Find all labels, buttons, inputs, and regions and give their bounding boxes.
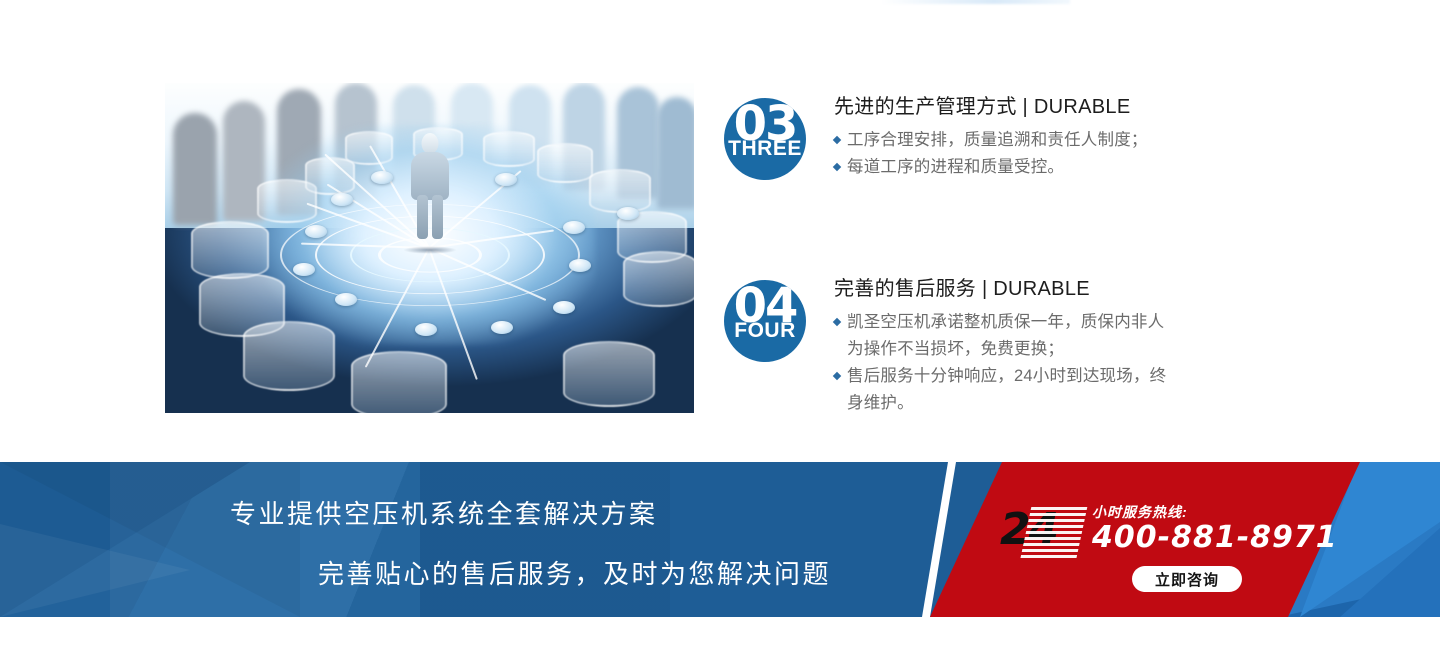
central-person-figure [409, 133, 451, 241]
feature-badge-04: 04 FOUR [724, 280, 806, 362]
network-connection-illustration [165, 83, 694, 413]
banner-headline-2: 完善贴心的售后服务，及时为您解决问题 [318, 554, 831, 591]
network-node [563, 221, 585, 234]
feature-line-text: 凯圣空压机承诺整机质保一年，质保内非人 [847, 313, 1164, 331]
network-node [335, 293, 357, 306]
network-node [491, 321, 513, 334]
feature-line: 工序合理安排，质量追溯和责任人制度； [834, 127, 1284, 154]
bottom-cta-banner: 专业提供空压机系统全套解决方案 完善贴心的售后服务，及时为您解决问题 24 小时… [0, 462, 1440, 617]
feature-item-04: 04 FOUR 完善的售后服务 | DURABLE 凯圣空压机承诺整机质保一年，… [724, 272, 1284, 417]
feature-line-text: 每道工序的进程和质量受控。 [847, 158, 1064, 176]
feature-lines: 工序合理安排，质量追溯和责任人制度； 每道工序的进程和质量受控。 [834, 127, 1284, 181]
consult-now-button[interactable]: 立即咨询 [1132, 566, 1242, 592]
badge-word: THREE [728, 138, 802, 160]
cylinder [563, 341, 655, 407]
network-node [331, 193, 353, 206]
bullet-diamond-icon [833, 163, 841, 171]
cylinder [483, 131, 535, 167]
person-leg-left [417, 195, 428, 239]
person-head [421, 133, 438, 154]
hotline-phone-number: 400-881-8971 [1092, 520, 1338, 555]
feature-line: 为操作不当损坏，免费更换； [834, 336, 1284, 363]
badge-word: FOUR [734, 320, 796, 342]
feature-title: 先进的生产管理方式 | DURABLE [834, 92, 1284, 122]
feature-item-03: 03 THREE 先进的生产管理方式 | DURABLE 工序合理安排，质量追溯… [724, 90, 1284, 210]
feature-badge-03: 03 THREE [724, 98, 806, 180]
feature-line: 身维护。 [834, 390, 1284, 417]
network-node [569, 259, 591, 272]
feature-line-text: 售后服务十分钟响应，24小时到达现场，终 [847, 367, 1166, 385]
feature-line: 每道工序的进程和质量受控。 [834, 154, 1284, 181]
cylinder [537, 143, 593, 183]
cylinder [623, 251, 694, 307]
top-decorative-sliver [880, 0, 1070, 4]
feature-line-text: 身维护。 [847, 394, 914, 412]
feature-line: 售后服务十分钟响应，24小时到达现场，终 [834, 363, 1284, 390]
cylinder [351, 351, 447, 413]
network-node [553, 301, 575, 314]
network-node [293, 263, 315, 276]
hotline-stripe-decor [1020, 506, 1087, 558]
network-node [371, 171, 393, 184]
feature-body: 先进的生产管理方式 | DURABLE 工序合理安排，质量追溯和责任人制度； 每… [834, 90, 1284, 181]
feature-title: 完善的售后服务 | DURABLE [834, 274, 1284, 304]
silhouette [657, 97, 694, 209]
feature-line-text: 为操作不当损坏，免费更换； [847, 340, 1064, 358]
banner-headline-1: 专业提供空压机系统全套解决方案 [230, 494, 658, 531]
network-node [415, 323, 437, 336]
feature-line-text: 工序合理安排，质量追溯和责任人制度； [847, 131, 1148, 149]
person-body [411, 152, 449, 200]
hotline-block: 24 小时服务热线: 400-881-8971 立即咨询 [1000, 498, 1330, 608]
cylinder [191, 221, 269, 279]
cylinder [243, 321, 335, 391]
bullet-diamond-icon [833, 372, 841, 380]
network-node [495, 173, 517, 186]
person-shadow [403, 246, 457, 254]
feature-body: 完善的售后服务 | DURABLE 凯圣空压机承诺整机质保一年，质保内非人 为操… [834, 272, 1284, 417]
network-node [617, 207, 639, 220]
banner-text-block: 专业提供空压机系统全套解决方案 完善贴心的售后服务，及时为您解决问题 [0, 462, 1000, 617]
cylinder [589, 169, 651, 213]
feature-line: 凯圣空压机承诺整机质保一年，质保内非人 [834, 309, 1284, 336]
bullet-diamond-icon [833, 318, 841, 326]
hotline-label: 小时服务热线: [1092, 502, 1188, 522]
network-node [305, 225, 327, 238]
feature-list: 03 THREE 先进的生产管理方式 | DURABLE 工序合理安排，质量追溯… [724, 90, 1284, 417]
person-leg-right [432, 195, 443, 239]
feature-lines: 凯圣空压机承诺整机质保一年，质保内非人 为操作不当损坏，免费更换； 售后服务十分… [834, 309, 1284, 417]
cylinder [345, 131, 393, 165]
bullet-diamond-icon [833, 136, 841, 144]
silhouette [173, 113, 217, 225]
